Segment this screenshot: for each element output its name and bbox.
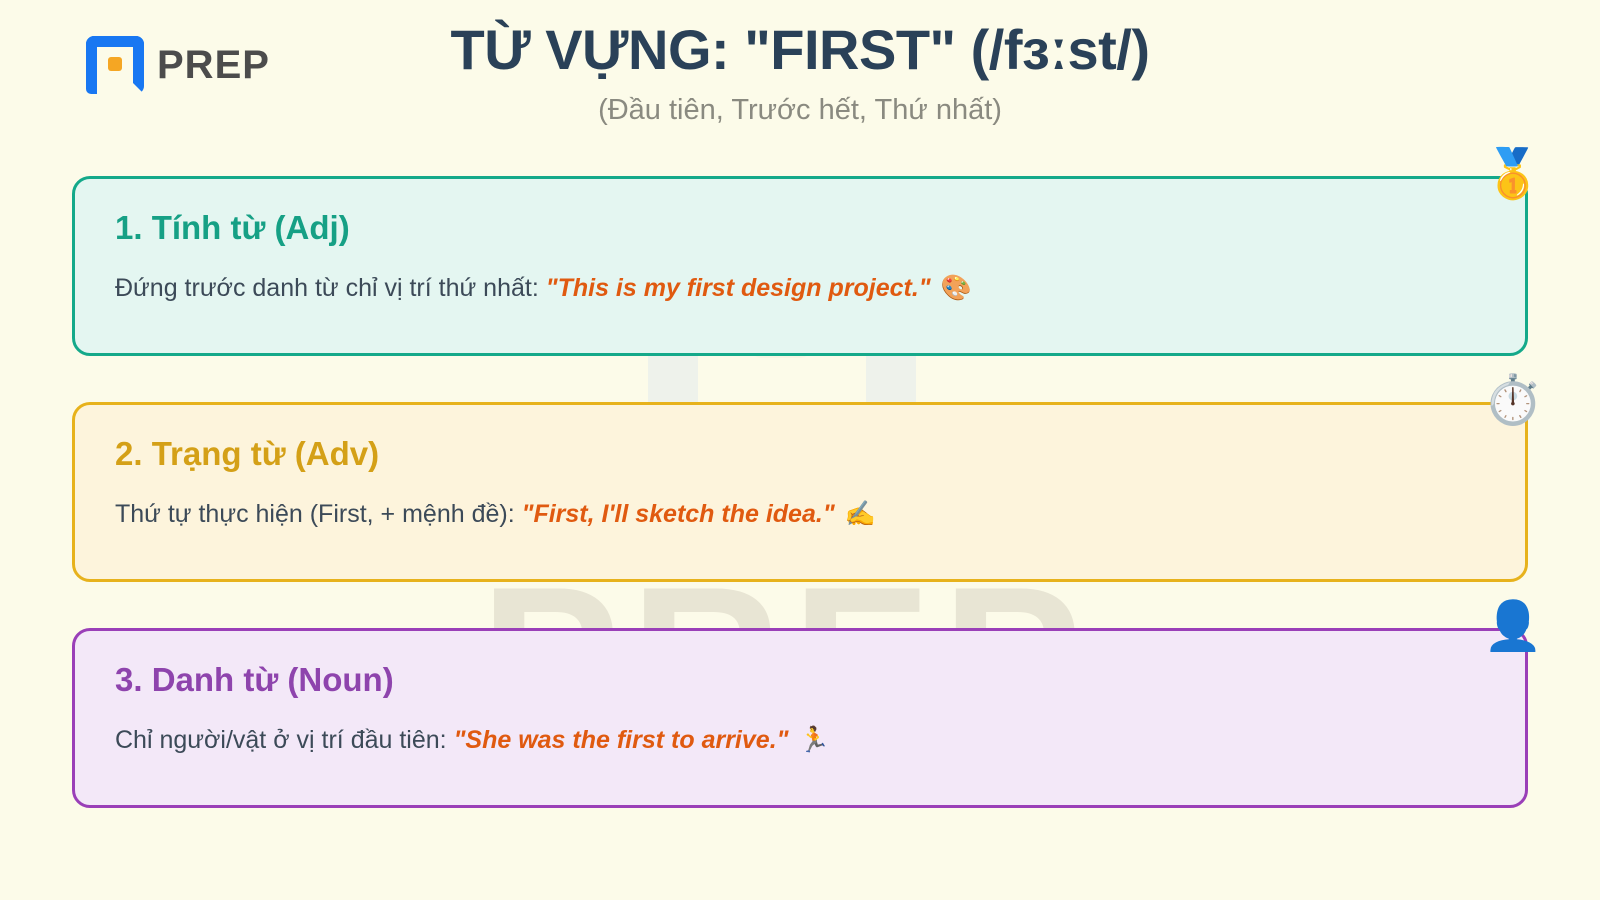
card-heading: 1. Tính từ (Adj) bbox=[115, 209, 1485, 247]
card-description: Đứng trước danh từ chỉ vị trí thứ nhất: bbox=[115, 274, 546, 302]
card-body: Thứ tự thực hiện (First, + mệnh đề): "Fi… bbox=[115, 497, 1485, 532]
runner-emoji: 🏃 bbox=[799, 726, 830, 754]
card-description: Chỉ người/vật ở vị trí đầu tiên: bbox=[115, 726, 454, 754]
bust-in-silhouette-emoji: 👤 bbox=[1483, 603, 1543, 651]
definition-card-adverb: ⏱️ 2. Trạng từ (Adv) Thứ tự thực hiện (F… bbox=[72, 402, 1528, 582]
definition-card-noun: 👤 3. Danh từ (Noun) Chỉ người/vật ở vị t… bbox=[72, 628, 1528, 808]
card-heading: 3. Danh từ (Noun) bbox=[115, 661, 1485, 699]
card-example: "She was the first to arrive." bbox=[454, 726, 789, 754]
title-block: TỪ VỰNG: "FIRST" (/fɜːst/) (Đầu tiên, Tr… bbox=[0, 18, 1600, 127]
palette-emoji: 🎨 bbox=[941, 274, 972, 302]
card-example: "First, I'll sketch the idea." bbox=[522, 500, 835, 528]
definition-card-adjective: 🥇 1. Tính từ (Adj) Đứng trước danh từ ch… bbox=[72, 176, 1528, 356]
first-place-medal-emoji: 🥇 bbox=[1483, 151, 1543, 199]
page-title: TỪ VỰNG: "FIRST" (/fɜːst/) bbox=[0, 18, 1600, 82]
definition-cards-list: 🥇 1. Tính từ (Adj) Đứng trước danh từ ch… bbox=[0, 176, 1600, 808]
card-body: Đứng trước danh từ chỉ vị trí thứ nhất: … bbox=[115, 271, 1485, 306]
page-header: PREP TỪ VỰNG: "FIRST" (/fɜːst/) (Đầu tiê… bbox=[0, 0, 1600, 176]
writing-hand-emoji: ✍️ bbox=[845, 500, 876, 528]
card-description: Thứ tự thực hiện (First, + mệnh đề): bbox=[115, 500, 522, 528]
page-subtitle: (Đầu tiên, Trước hết, Thứ nhất) bbox=[0, 94, 1600, 127]
card-heading: 2. Trạng từ (Adv) bbox=[115, 435, 1485, 473]
stopwatch-emoji: ⏱️ bbox=[1483, 377, 1543, 425]
card-body: Chỉ người/vật ở vị trí đầu tiên: "She wa… bbox=[115, 723, 1485, 758]
card-example: "This is my first design project." bbox=[546, 274, 931, 302]
